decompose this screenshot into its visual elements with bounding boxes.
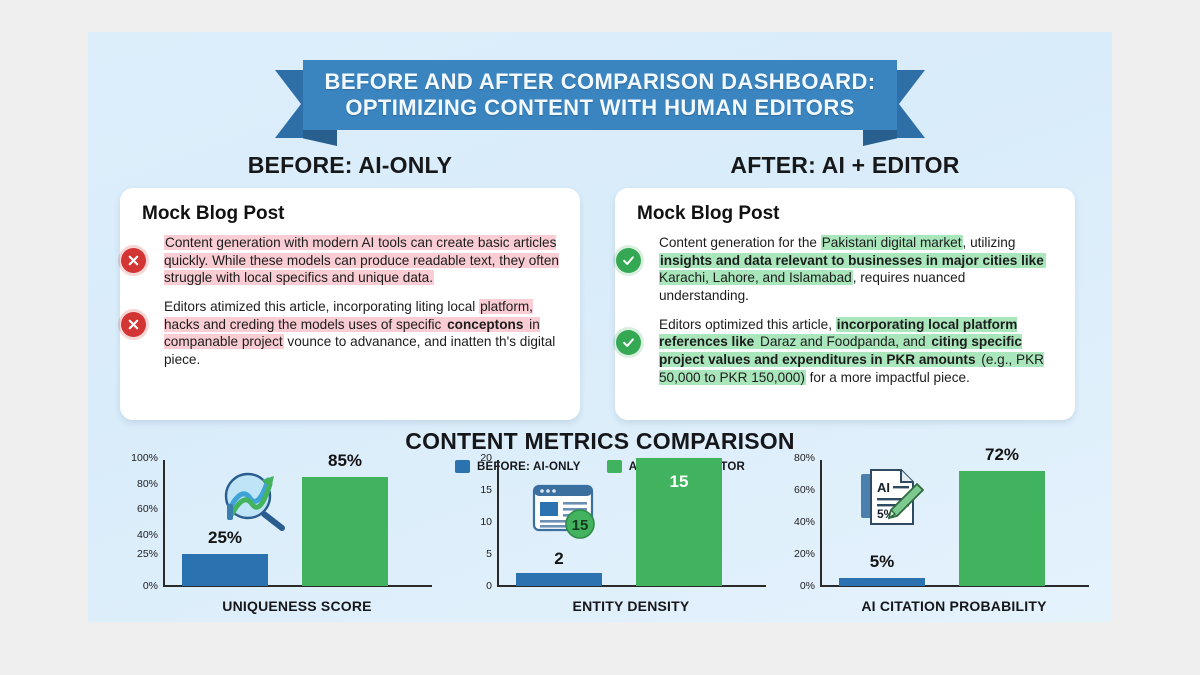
after-card-title: Mock Blog Post <box>637 203 1057 225</box>
banner-title: Before and After Comparison Dashboard: O… <box>325 69 876 121</box>
y-tick-label: 25% <box>137 548 164 560</box>
chart-1-xlabel: UNIQUENESS SCORE <box>156 598 438 614</box>
check-circle-icon <box>616 330 641 355</box>
before-blog-card: Mock Blog Post Content generation with m… <box>120 188 580 420</box>
y-tick-label: 60% <box>137 503 164 515</box>
after-paragraph-2: Editors optimized this article, incorpor… <box>633 316 1057 387</box>
y-tick-label: 60% <box>794 484 821 496</box>
after-column-heading: AFTER: AI + EDITOR <box>615 152 1075 179</box>
bar-after <box>959 471 1045 586</box>
magnifier-growth-chart-icon <box>216 468 288 534</box>
y-tick-label: 0% <box>800 580 821 592</box>
after-p2-highlight-2: Daraz and Foodpanda, and <box>755 334 930 349</box>
after-blog-card: Mock Blog Post Content generation for th… <box>615 188 1075 420</box>
y-tick-label: 80% <box>794 452 821 464</box>
before-paragraph-1: Content generation with modern AI tools … <box>138 234 562 287</box>
y-tick-label: 20 <box>480 452 498 464</box>
bar-before <box>182 554 268 586</box>
after-p1-text-1: Content generation for the <box>659 235 821 250</box>
chart-uniqueness-score: 100%80%60%40%25%0%25%85% UNIQUENESS SCOR… <box>118 458 438 618</box>
y-tick-label: 5 <box>486 548 498 560</box>
bar-value-before: 2 <box>554 549 563 569</box>
after-p2-text-2: for a more impactful piece. <box>806 370 970 385</box>
bar-after <box>302 477 388 586</box>
chart-3-xlabel: AI CITATION PROBABILITY <box>813 598 1095 614</box>
bar-value-before: 5% <box>870 552 895 572</box>
y-tick-label: 20% <box>794 548 821 560</box>
metrics-section-title: CONTENT METRICS COMPARISON <box>0 428 1200 455</box>
after-p1-text-2: , utilizing <box>963 235 1016 250</box>
ai-document-pencil-icon: AI 5% <box>857 466 925 532</box>
title-banner: Before and After Comparison Dashboard: O… <box>275 60 925 148</box>
y-tick-label: 15 <box>480 484 498 496</box>
bar-value-after: 15 <box>670 472 689 492</box>
ribbon-fold-right <box>863 129 897 146</box>
banner-title-line1: Before and After Comparison Dashboard: <box>325 69 876 95</box>
x-circle-icon <box>121 248 146 273</box>
chart-2-xlabel: ENTITY DENSITY <box>490 598 772 614</box>
ribbon-fold-left <box>303 129 337 146</box>
check-circle-icon <box>616 248 641 273</box>
before-paragraph-2: Editors atimized this article, incorpora… <box>138 298 562 369</box>
before-p2-text-1: Editors atimized this article, incorpora… <box>164 299 479 314</box>
ai-icon-text: AI <box>877 480 890 495</box>
after-paragraph-1: Content generation for the Pakistani dig… <box>633 234 1057 305</box>
y-tick-label: 10 <box>480 516 498 528</box>
before-column-heading: BEFORE: AI-ONLY <box>120 152 580 179</box>
y-tick-label: 0 <box>486 580 498 592</box>
bar-value-after: 85% <box>328 451 362 471</box>
y-tick-label: 40% <box>794 516 821 528</box>
chart-entity-density: 20151050215 15 ENTITY DENSITY <box>452 458 772 618</box>
plot-area-1: 100%80%60%40%25%0%25%85% <box>164 458 430 586</box>
after-p1-highlight-2: insights and data relevant to businesses… <box>659 253 1045 268</box>
bar-before <box>516 573 602 586</box>
x-circle-icon <box>121 312 146 337</box>
entity-icon-badge-value: 15 <box>572 517 589 534</box>
y-tick-label: 40% <box>137 529 164 541</box>
ribbon-body: Before and After Comparison Dashboard: O… <box>303 60 897 130</box>
banner-title-line2: Optimizing Content With Human Editors <box>325 95 876 121</box>
webpage-entities-icon: 15 <box>530 482 604 542</box>
bar-value-after: 72% <box>985 445 1019 465</box>
before-p2-highlight-2: conceptons <box>446 317 524 332</box>
after-p2-text-1: Editors optimized this article, <box>659 317 836 332</box>
dashboard-infographic: Before and After Comparison Dashboard: O… <box>0 0 1200 675</box>
after-p1-highlight-1: Pakistani digital market <box>821 235 963 250</box>
y-tick-label: 80% <box>137 478 164 490</box>
before-card-title: Mock Blog Post <box>142 203 562 225</box>
before-p1-highlight: Content generation with modern AI tools … <box>164 235 559 285</box>
bar-before <box>839 578 925 586</box>
y-tick-label: 0% <box>143 580 164 592</box>
chart-ai-citation-probability: 80%60%40%20%0%5%72% AI 5% AI CITATION PR… <box>775 458 1095 618</box>
y-tick-label: 100% <box>131 452 164 464</box>
